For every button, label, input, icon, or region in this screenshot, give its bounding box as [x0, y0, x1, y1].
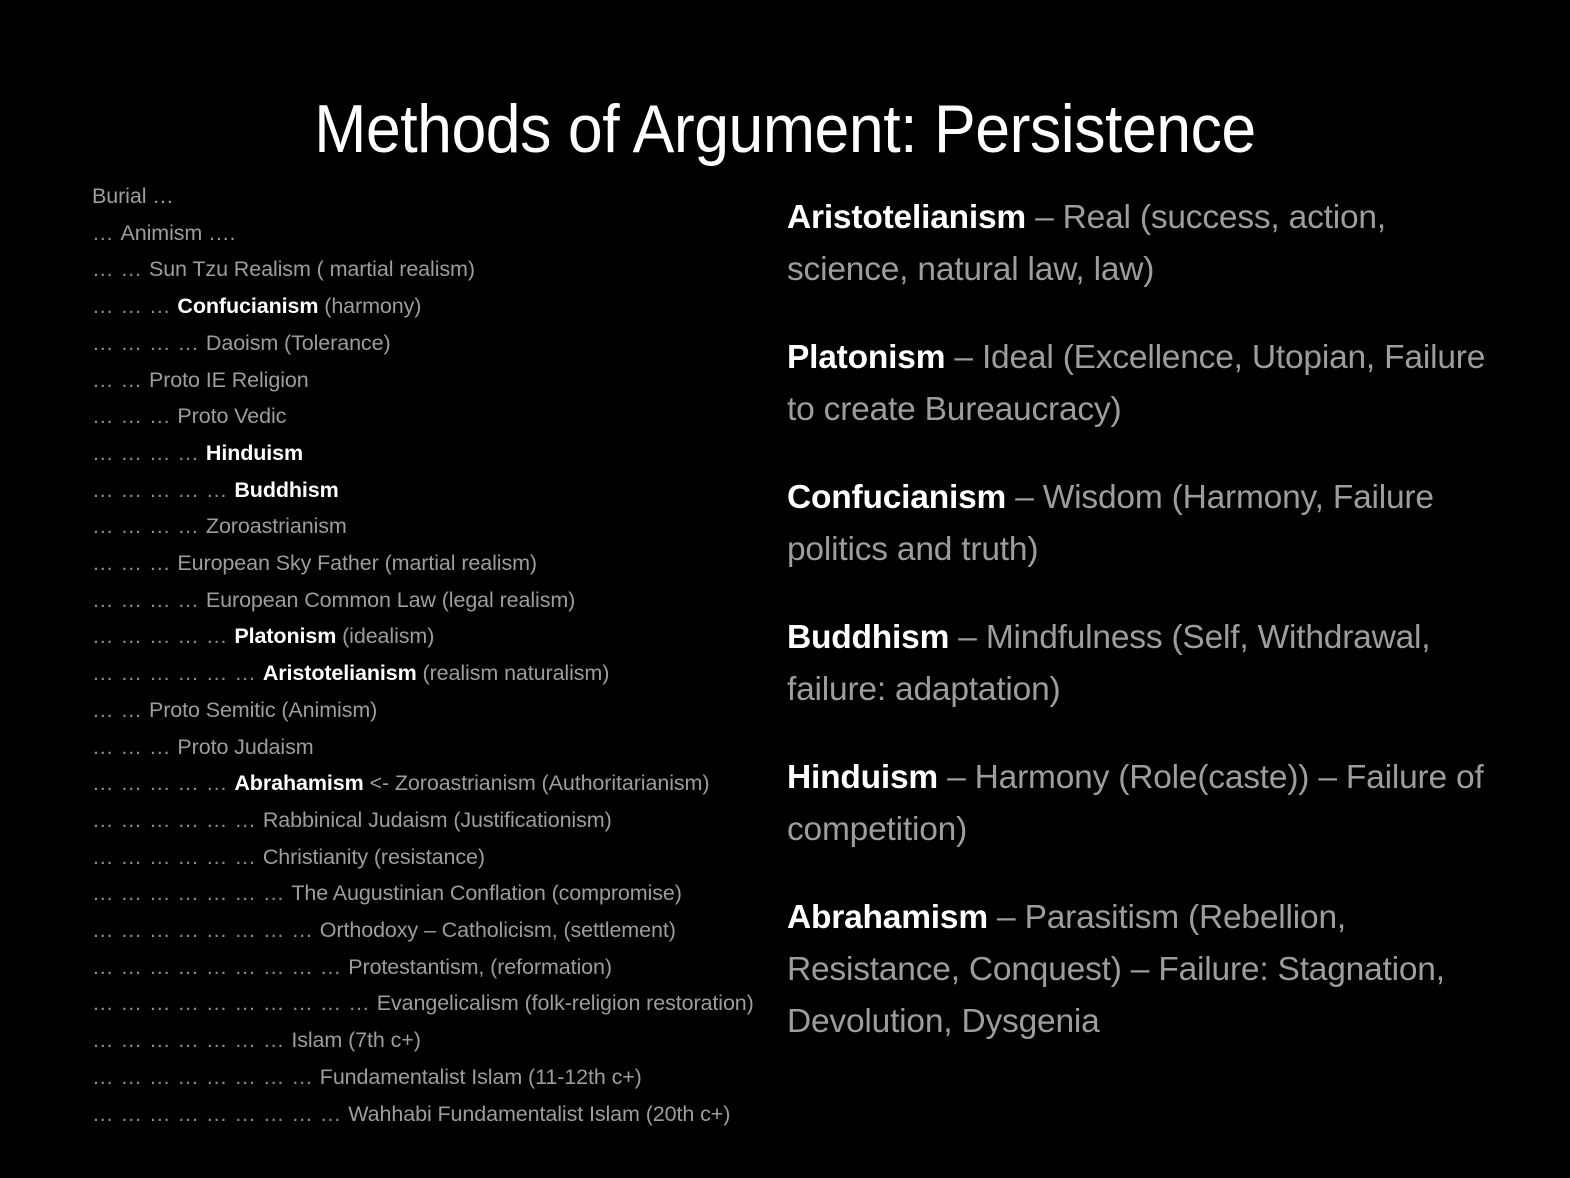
outline-row: … … … … European Common Law (legal reali…: [92, 582, 782, 619]
outline-term: Confucianism: [177, 294, 318, 318]
outline-row: … … … … … Platonism (idealism): [92, 618, 782, 655]
outline-annotation: (folk-religion restoration): [519, 991, 754, 1015]
outline-annotation: (Justificationism): [447, 808, 611, 832]
outline-term: Hinduism: [206, 441, 303, 465]
outline-row: … … Proto Semitic (Animism): [92, 692, 782, 729]
outline-indent-dots: … … …: [92, 404, 177, 428]
outline-indent-dots: … …: [92, 368, 149, 392]
outline-indent-dots: … … … … … …: [92, 661, 263, 685]
outline-row: … … … … … Buddhism: [92, 472, 782, 509]
outline-row: … … … … … … … … … Protestantism, (reform…: [92, 949, 782, 986]
outline-term: European Common Law: [206, 588, 436, 612]
summary-entry: Hinduism – Harmony (Role(caste)) – Failu…: [787, 752, 1487, 856]
outline-row: … … … … Zoroastrianism: [92, 508, 782, 545]
outline-term: Fundamentalist Islam: [320, 1065, 522, 1089]
outline-annotation: (7th c+): [342, 1028, 421, 1052]
outline-row: … … … … … … … … … Wahhabi Fundamentalist…: [92, 1096, 782, 1133]
outline-indent-dots: … … …: [92, 294, 177, 318]
summary-entry-term: Hinduism: [787, 759, 938, 796]
outline-term: European Sky Father: [177, 551, 378, 575]
outline-term: Orthodoxy – Catholicism,: [320, 918, 558, 942]
outline-row: Burial …: [92, 178, 782, 215]
summary-entry-term: Abrahamism: [787, 899, 988, 936]
outline-annotation: (Animism): [276, 698, 378, 722]
outline-annotation: (settlement): [558, 918, 676, 942]
summary-entry: Buddhism – Mindfulness (Self, Withdrawal…: [787, 612, 1487, 716]
outline-annotation: ….: [202, 221, 235, 245]
outline-annotation: (harmony): [318, 294, 421, 318]
outline-row: … … Proto IE Religion: [92, 362, 782, 399]
outline-indent-dots: … … … … … … …: [92, 1028, 291, 1052]
outline-indent-dots: … …: [92, 698, 149, 722]
outline-term: Evangelicalism: [377, 991, 519, 1015]
outline-row: … … … … Daoism (Tolerance): [92, 325, 782, 362]
outline-row: … … … Proto Judaism: [92, 729, 782, 766]
outline-term: Islam: [291, 1028, 342, 1052]
outline-row: … … … … … … … … … … Evangelicalism (folk…: [92, 985, 782, 1022]
outline-term: Animism: [120, 221, 202, 245]
outline-term: Christianity: [263, 845, 368, 869]
outline-term: Zoroastrianism: [206, 514, 347, 538]
outline-indent-dots: … … … … … … … … …: [92, 1102, 348, 1126]
outline-row: … … … … … … … Islam (7th c+): [92, 1022, 782, 1059]
outline-row: … … … … … … Rabbinical Judaism (Justific…: [92, 802, 782, 839]
outline-term: Platonism: [234, 624, 336, 648]
outline-indent-dots: … … … … …: [92, 624, 234, 648]
outline-annotation: (11-12th c+): [522, 1065, 642, 1089]
outline-term: Buddhism: [234, 478, 338, 502]
outline-row: … … Sun Tzu Realism ( martial realism): [92, 251, 782, 288]
outline-indent-dots: … … … …: [92, 331, 206, 355]
page-title: Methods of Argument: Persistence: [63, 94, 1507, 165]
outline-row: … … … … … … … … Fundamentalist Islam (11…: [92, 1059, 782, 1096]
summary-list: Aristotelianism – Real (success, action,…: [787, 192, 1487, 1048]
outline-indent-dots: … … … … … …: [92, 845, 263, 869]
outline-row: … … … … … Abrahamism <- Zoroastrianism (…: [92, 765, 782, 802]
outline-term: Proto Semitic: [149, 698, 276, 722]
outline-indent-dots: … … … … … … … … … …: [92, 991, 377, 1015]
outline-row: … … … … … … … … Orthodoxy – Catholicism,…: [92, 912, 782, 949]
outline-indent-dots: … … … … …: [92, 478, 234, 502]
outline-indent-dots: … … … …: [92, 441, 206, 465]
outline-term: Sun Tzu Realism: [149, 257, 311, 281]
outline-indent-dots: … … …: [92, 551, 177, 575]
summary-entry-term: Platonism: [787, 339, 945, 376]
slide-canvas: Methods of Argument: Persistence Burial …: [0, 0, 1570, 1178]
outline-row: … … … … … … Christianity (resistance): [92, 839, 782, 876]
outline-indent-dots: … … … … … … … …: [92, 1065, 320, 1089]
outline-term: Proto Judaism: [177, 735, 313, 759]
outline-annotation: (realism naturalism): [417, 661, 610, 685]
outline-row: … … … … … … … The Augustinian Conflation…: [92, 875, 782, 912]
summary-entry: Aristotelianism – Real (success, action,…: [787, 192, 1487, 296]
outline-term: Burial: [92, 184, 146, 208]
outline-row: … … … Confucianism (harmony): [92, 288, 782, 325]
outline-row: … … … European Sky Father (martial reali…: [92, 545, 782, 582]
outline-annotation: ( martial realism): [311, 257, 475, 281]
outline-row: … … … … Hinduism: [92, 435, 782, 472]
summary-entry-term: Buddhism: [787, 619, 949, 656]
outline-annotation: <- Zoroastrianism (Authoritarianism): [364, 771, 710, 795]
outline-row: … … … … … … Aristotelianism (realism nat…: [92, 655, 782, 692]
outline-annotation: (Tolerance): [278, 331, 390, 355]
outline-indent-dots: … …: [92, 257, 149, 281]
outline-indent-dots: …: [92, 221, 120, 245]
outline-indent-dots: … … … …: [92, 588, 206, 612]
outline-annotation: (20th c+): [640, 1102, 730, 1126]
outline-annotation: …: [146, 184, 173, 208]
outline-indent-dots: … … … …: [92, 514, 206, 538]
summary-entry-term: Confucianism: [787, 479, 1006, 516]
outline-annotation: (legal realism): [436, 588, 575, 612]
outline-annotation: (compromise): [546, 881, 682, 905]
outline-term: Rabbinical Judaism: [263, 808, 448, 832]
summary-entry: Platonism – Ideal (Excellence, Utopian, …: [787, 332, 1487, 436]
outline-term: Wahhabi Fundamentalist Islam: [348, 1102, 640, 1126]
outline-list: Burial …… Animism ….… … Sun Tzu Realism …: [92, 178, 782, 1132]
summary-entry-term: Aristotelianism: [787, 199, 1026, 236]
outline-term: Abrahamism: [234, 771, 363, 795]
outline-term: Proto Vedic: [177, 404, 286, 428]
outline-term: Protestantism,: [348, 955, 484, 979]
outline-annotation: (resistance): [368, 845, 485, 869]
outline-indent-dots: … … … … … … … …: [92, 918, 320, 942]
outline-term: Proto IE Religion: [149, 368, 309, 392]
outline-row: … Animism ….: [92, 215, 782, 252]
outline-annotation: (martial realism): [379, 551, 537, 575]
outline-indent-dots: … … … … …: [92, 771, 234, 795]
outline-term: Daoism: [206, 331, 278, 355]
outline-annotation: (idealism): [336, 624, 434, 648]
outline-annotation: (reformation): [484, 955, 612, 979]
outline-term: The Augustinian Conflation: [291, 881, 545, 905]
outline-row: … … … Proto Vedic: [92, 398, 782, 435]
summary-entry: Abrahamism – Parasitism (Rebellion, Resi…: [787, 892, 1487, 1048]
outline-indent-dots: … … … … … … … … …: [92, 955, 348, 979]
outline-indent-dots: … … … … … … …: [92, 881, 291, 905]
outline-indent-dots: … … … … … …: [92, 808, 263, 832]
summary-entry: Confucianism – Wisdom (Harmony, Failure …: [787, 472, 1487, 576]
outline-indent-dots: … … …: [92, 735, 177, 759]
outline-term: Aristotelianism: [263, 661, 417, 685]
